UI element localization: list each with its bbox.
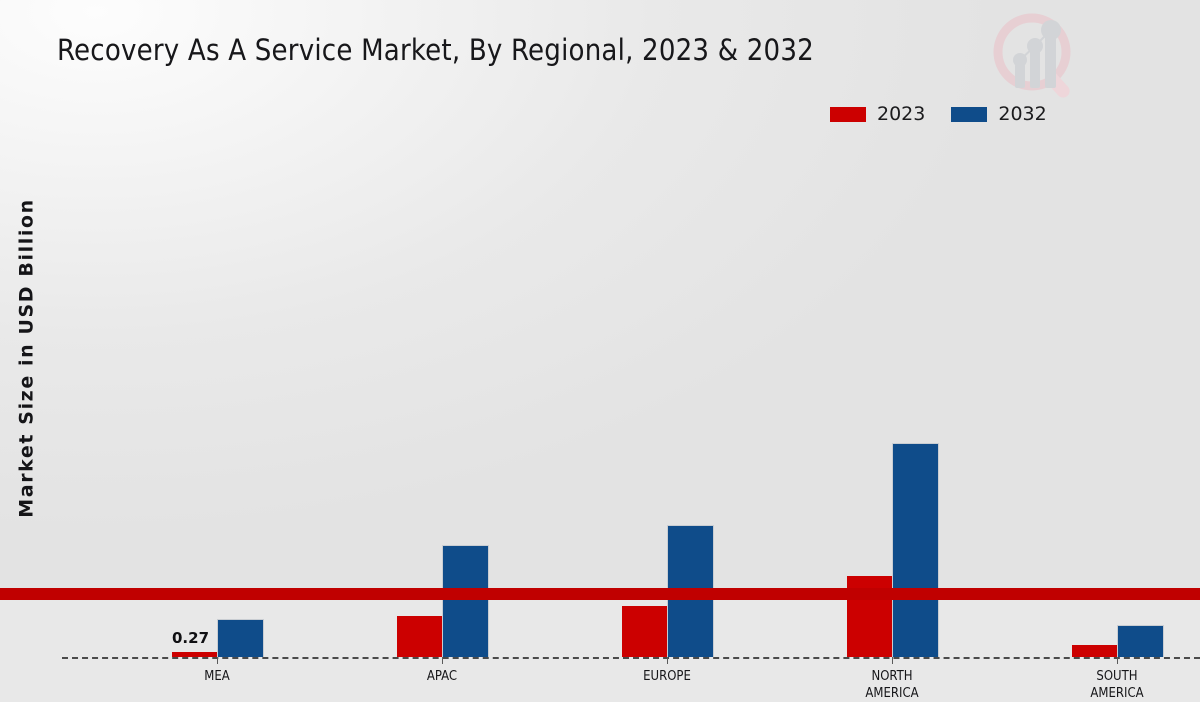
bar-group bbox=[1072, 625, 1164, 657]
bar-2032[interactable] bbox=[892, 443, 939, 657]
legend-item-2032[interactable]: 2032 bbox=[951, 103, 1046, 125]
x-axis-label: APAC bbox=[372, 668, 512, 685]
x-axis-tick bbox=[667, 657, 668, 664]
chart-legend: 2023 2032 bbox=[830, 103, 1047, 125]
x-axis-label: EUROPE bbox=[597, 668, 737, 685]
x-axis-tick bbox=[442, 657, 443, 664]
bar-2032[interactable] bbox=[1117, 625, 1164, 657]
bar-group bbox=[397, 545, 489, 657]
bar-2032[interactable] bbox=[217, 619, 264, 657]
bar-group bbox=[847, 443, 939, 657]
legend-label-2023: 2023 bbox=[877, 103, 925, 125]
footer-accent-bar bbox=[0, 588, 1200, 600]
bar-2023[interactable] bbox=[622, 606, 667, 657]
legend-label-2032: 2032 bbox=[998, 103, 1046, 125]
bar-2023[interactable] bbox=[1072, 645, 1117, 657]
x-axis-label: SOUTH AMERICA bbox=[1047, 668, 1187, 702]
legend-item-2023[interactable]: 2023 bbox=[830, 103, 925, 125]
bar-chart-glyph bbox=[1013, 20, 1061, 88]
bar-2032[interactable] bbox=[442, 545, 489, 657]
watermark-logo bbox=[985, 8, 1090, 108]
x-axis-tick bbox=[217, 657, 218, 664]
bar-2023[interactable] bbox=[397, 616, 442, 657]
legend-swatch-2023 bbox=[830, 107, 866, 122]
x-axis-label: NORTH AMERICA bbox=[822, 668, 962, 702]
plot-area: MEAAPACEUROPENORTH AMERICASOUTH AMERICA0… bbox=[62, 140, 1182, 517]
x-axis-label: MEA bbox=[147, 668, 287, 685]
bar-2023[interactable] bbox=[172, 652, 217, 657]
x-axis-tick bbox=[892, 657, 893, 664]
y-axis-title: Market Size in USD Billion bbox=[16, 186, 38, 531]
x-axis-tick bbox=[1117, 657, 1118, 664]
chart-canvas: Recovery As A Service Market, By Regiona… bbox=[0, 0, 1200, 600]
x-axis-baseline bbox=[62, 657, 1200, 659]
chart-title: Recovery As A Service Market, By Regiona… bbox=[57, 33, 814, 67]
legend-swatch-2032 bbox=[951, 107, 987, 122]
bar-value-label: 0.27 bbox=[172, 629, 209, 647]
